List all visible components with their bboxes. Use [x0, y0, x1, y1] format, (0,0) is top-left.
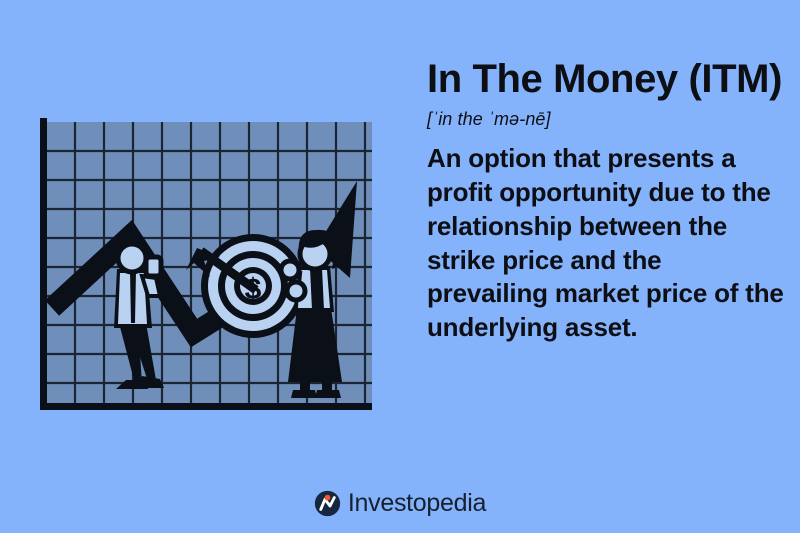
y-axis	[40, 118, 47, 410]
pronunciation-text: [ˈin the ˈmə-nē]	[427, 109, 787, 130]
definition-card: $	[0, 0, 800, 533]
stock-chart-illustration: $	[34, 118, 378, 418]
page-title: In The Money (ITM)	[427, 58, 787, 101]
definition-text: An option that presents a profit opportu…	[427, 142, 787, 345]
investopedia-logo-icon	[314, 490, 341, 517]
investopedia-logo: Investopedia	[0, 489, 800, 518]
term-text-column: In The Money (ITM) [ˈin the ˈmə-nē] An o…	[427, 58, 787, 345]
x-axis	[40, 403, 372, 410]
investopedia-logo-text: Investopedia	[348, 489, 486, 518]
